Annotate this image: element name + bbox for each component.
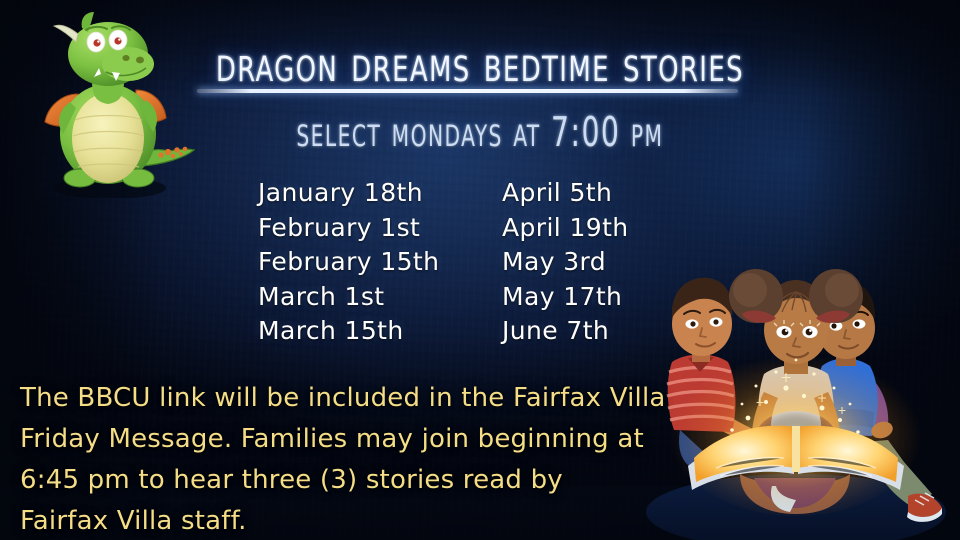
date-item: April 5th [502,176,722,211]
date-item: May 17th [502,280,722,315]
note-paragraph: The BBCU link will be included in the Fa… [20,378,670,540]
page-subtitle: Select mondays at 7:00 pm [296,110,663,156]
note-line: Friday Message. Families may join beginn… [20,419,670,460]
date-item: March 15th [258,314,502,349]
bedtime-stories-poster: Dragon Dreams Bedtime Stories Select mon… [0,0,960,540]
poster-title-container: Dragon Dreams Bedtime Stories [0,36,960,87]
dragon-illustration [18,0,196,198]
date-column-left: January 18th February 1st February 15th … [258,176,502,349]
page-title: Dragon Dreams Bedtime Stories [216,36,744,93]
note-line: The BBCU link will be included in the Fa… [20,378,670,419]
poster-subtitle-container: Select mondays at 7:00 pm [0,110,960,150]
date-item: April 19th [502,211,722,246]
date-item: February 1st [258,211,502,246]
note-line: Fairfax Villa staff. [20,501,670,540]
date-item: June 7th [502,314,722,349]
date-item: January 18th [258,176,502,211]
title-underline-rule [197,89,738,93]
session-dates: January 18th February 1st February 15th … [258,176,722,349]
date-item: March 1st [258,280,502,315]
date-column-right: April 5th April 19th May 3rd May 17th Ju… [502,176,722,349]
date-item: May 3rd [502,245,722,280]
glowing-book [670,352,922,516]
date-item: February 15th [258,245,502,280]
note-line: 6:45 pm to hear three (3) stories read b… [20,460,670,501]
